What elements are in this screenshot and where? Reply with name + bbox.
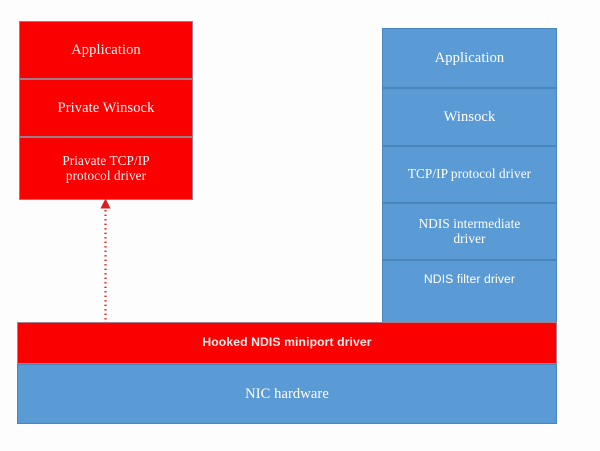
private-stack-layer-private-winsock-label: Private Winsock	[20, 100, 192, 116]
hook-arrow-icon	[99, 198, 112, 326]
standard-stack-layer-winsock: Winsock	[382, 88, 557, 146]
private-stack-layer-private-tcpip-label: Priavate TCP/IP protocol driver	[20, 154, 192, 184]
standard-stack-layer-tcpip-protocol-driver-label: TCP/IP protocol driver	[383, 167, 556, 182]
shared-layer-nic-hardware-label: NIC hardware	[18, 386, 556, 402]
standard-stack-layer-winsock-label: Winsock	[383, 109, 556, 125]
standard-stack-layer-application: Application	[382, 28, 557, 88]
standard-stack-layer-ndis-intermediate-driver-label: NDIS intermediate driver	[383, 217, 556, 247]
standard-stack-layer-application-label: Application	[383, 50, 556, 66]
shared-layer-hooked-ndis-miniport-driver-label: Hooked NDIS miniport driver	[18, 336, 556, 350]
standard-stack-layer-tcpip-protocol-driver: TCP/IP protocol driver	[382, 146, 557, 203]
private-stack-layer-private-tcpip: Priavate TCP/IP protocol driver	[19, 137, 193, 200]
diagram-canvas: Application Private Winsock Priavate TCP…	[0, 0, 600, 451]
standard-stack-layer-ndis-intermediate-driver: NDIS intermediate driver	[382, 203, 557, 260]
private-stack-layer-application: Application	[19, 21, 193, 79]
shared-layer-nic-hardware: NIC hardware	[17, 364, 557, 424]
private-stack-layer-application-label: Application	[20, 42, 192, 58]
standard-stack-layer-ndis-filter-driver-label: NDIS filter driver	[383, 273, 556, 287]
standard-stack-layer-ndis-filter-driver: NDIS filter driver	[382, 260, 557, 323]
private-stack-layer-private-winsock: Private Winsock	[19, 79, 193, 137]
shared-layer-hooked-ndis-miniport-driver: Hooked NDIS miniport driver	[17, 322, 557, 364]
